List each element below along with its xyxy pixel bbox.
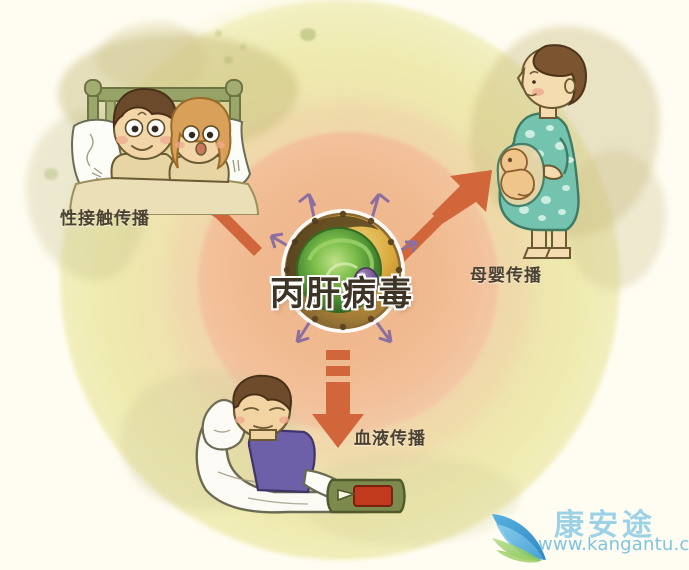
- scene-couple-in-bed: [52, 60, 267, 215]
- watermark-url: www.kangantu.com: [538, 534, 689, 555]
- person-woman: [170, 98, 231, 182]
- watercolor-dot-a: [300, 28, 316, 41]
- scene-pregnant-woman: [488, 42, 608, 270]
- label-mother-to-child-transmission: 母婴传播: [470, 261, 542, 286]
- watercolor-dot-c: [240, 44, 246, 50]
- watermark: 康安途 www.kangantu.com: [490, 502, 685, 566]
- blood-bag: [354, 486, 392, 506]
- label-sexual-transmission: 性接触传播: [60, 204, 150, 229]
- center-label-virus: 丙肝病毒: [258, 266, 426, 315]
- person-man: [112, 89, 177, 180]
- label-blood-transmission: 血液传播: [354, 424, 426, 449]
- ear: [565, 79, 575, 93]
- nose: [518, 70, 524, 86]
- infographic-canvas: 丙肝病毒 性接触传播 母婴传播 血液传播: [0, 0, 689, 570]
- watercolor-dot-e: [215, 30, 222, 37]
